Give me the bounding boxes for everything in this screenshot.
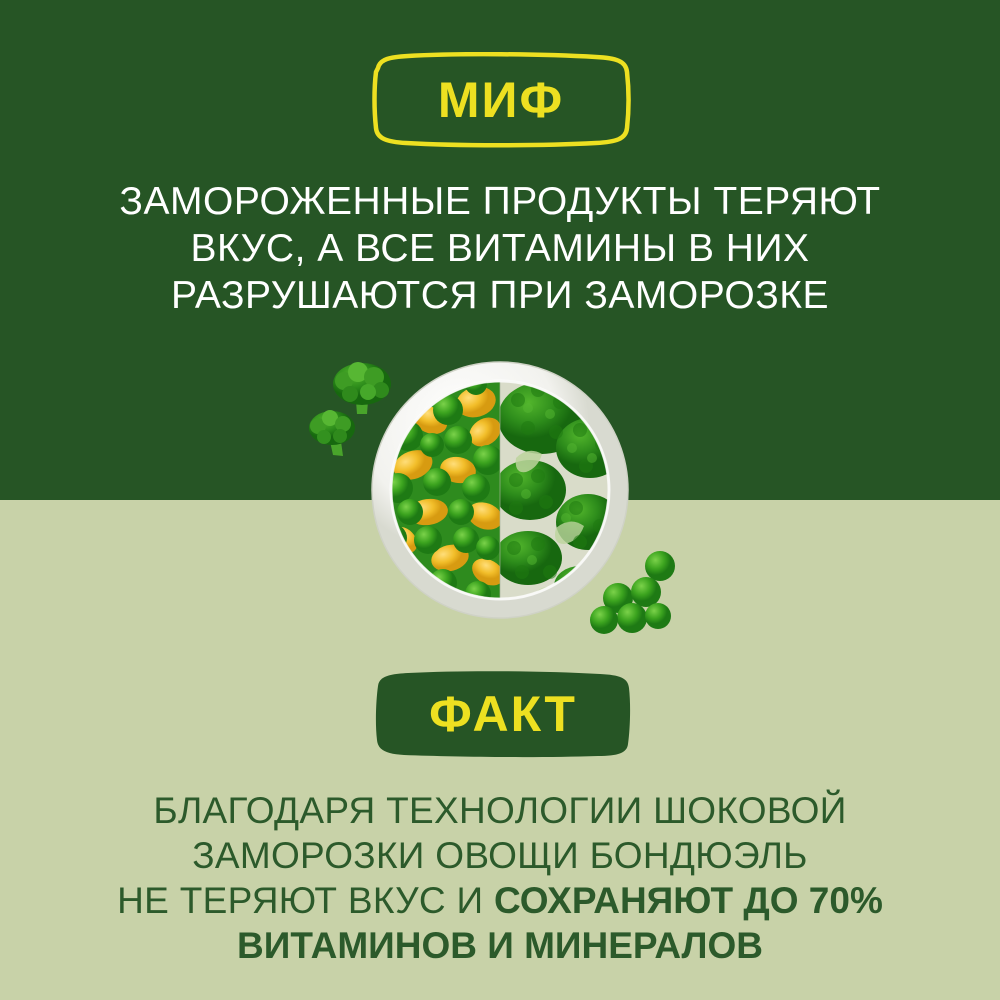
pea-single-icon — [645, 551, 675, 581]
fact-line-3: НЕ ТЕРЯЮТ ВКУС И СОХРАНЯЮТ ДО 70% — [60, 878, 940, 923]
myth-statement: ЗАМОРОЖЕННЫЕ ПРОДУКТЫ ТЕРЯЮТ ВКУС, А ВСЕ… — [60, 178, 940, 319]
myth-line-3: РАЗРУШАЮТСЯ ПРИ ЗАМОРОЗКЕ — [60, 272, 940, 319]
myth-badge: МИФ — [368, 52, 634, 148]
myth-line-1: ЗАМОРОЖЕННЫЕ ПРОДУКТЫ ТЕРЯЮТ — [60, 178, 940, 225]
fact-line-2: ЗАМОРОЗКИ ОВОЩИ БОНДЮЭЛЬ — [60, 833, 940, 878]
fact-line-3-regular: НЕ ТЕРЯЮТ ВКУС И — [117, 880, 494, 921]
pea-cluster-icon — [590, 577, 671, 634]
fact-line-1: БЛАГОДАРЯ ТЕХНОЛОГИИ ШОКОВОЙ — [60, 788, 940, 833]
fact-line-4: ВИТАМИНОВ И МИНЕРАЛОВ — [60, 923, 940, 968]
vegetable-bowl-illustration — [280, 340, 720, 640]
bowl-left-peas-corn — [379, 373, 509, 607]
fact-badge-label: ФАКТ — [374, 670, 632, 758]
broccoli-floret-large-icon — [333, 362, 391, 414]
myth-line-2: ВКУС, А ВСЕ ВИТАМИНЫ В НИХ — [60, 225, 940, 272]
myth-badge-label: МИФ — [368, 52, 634, 148]
vegetable-bowl-photo — [280, 340, 720, 640]
fact-line-4-bold: ВИТАМИНОВ И МИНЕРАЛОВ — [237, 925, 763, 966]
fact-line-3-bold: СОХРАНЯЮТ ДО 70% — [494, 880, 883, 921]
fact-statement: БЛАГОДАРЯ ТЕХНОЛОГИИ ШОКОВОЙ ЗАМОРОЗКИ О… — [60, 788, 940, 968]
broccoli-floret-small-icon — [309, 410, 355, 456]
fact-badge: ФАКТ — [374, 670, 632, 758]
poster-canvas: МИФ ЗАМОРОЖЕННЫЕ ПРОДУКТЫ ТЕРЯЮТ ВКУС, А… — [0, 0, 1000, 1000]
bowl-right-broccoli — [494, 380, 624, 606]
